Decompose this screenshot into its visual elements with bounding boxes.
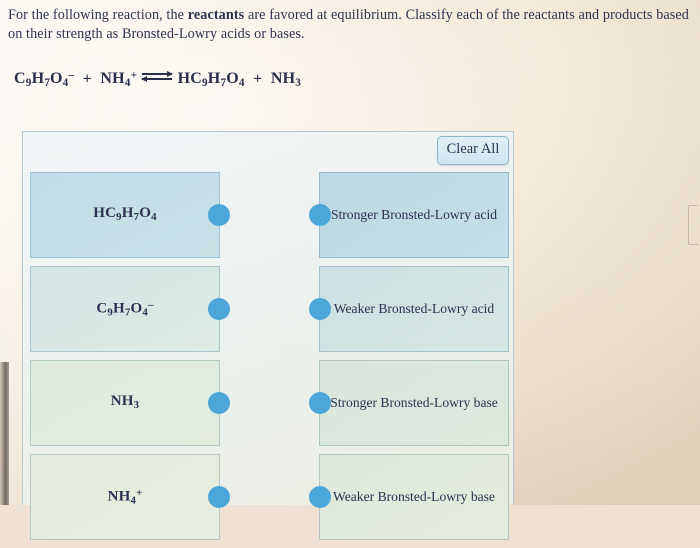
right-item-1[interactable]: Stronger Bronsted-Lowry acid <box>319 172 509 258</box>
equation-plus-1: + <box>78 70 96 87</box>
cut-off-panel-edge <box>688 205 699 245</box>
question-text: For the following reaction, the reactant… <box>8 6 690 44</box>
left-item-2[interactable]: C9H7O4– <box>30 266 220 352</box>
left-item-4-label: NH4+ <box>108 484 143 510</box>
connector-dot-left-icon[interactable] <box>309 392 331 414</box>
right-item-2[interactable]: Weaker Bronsted-Lowry acid <box>319 266 509 352</box>
left-item-1-label: HC9H7O4 <box>93 204 156 226</box>
left-column: HC9H7O4 C9H7O4– NH3 NH4+ <box>30 172 220 548</box>
connector-dot-right-icon[interactable] <box>208 392 230 414</box>
connector-dot-left-icon[interactable] <box>309 204 331 226</box>
equation-plus-2: + <box>249 70 267 87</box>
right-column: Stronger Bronsted-Lowry acid Weaker Bron… <box>319 172 509 548</box>
question-text-part-1: For the following reaction, the <box>8 7 188 23</box>
left-item-3[interactable]: NH3 <box>30 360 220 446</box>
right-item-1-label: Stronger Bronsted-Lowry acid <box>331 206 497 224</box>
left-item-4[interactable]: NH4+ <box>30 454 220 540</box>
right-item-3[interactable]: Stronger Bronsted-Lowry base <box>319 360 509 446</box>
left-item-1[interactable]: HC9H7O4 <box>30 172 220 258</box>
chemical-equation: C9H7O4– + NH4+ HC9H7O4 + NH3 <box>14 70 301 90</box>
matching-panel: Clear All HC9H7O4 C9H7O4– NH3 NH4+ <box>22 131 514 505</box>
connector-dot-right-icon[interactable] <box>208 204 230 226</box>
right-item-2-label: Weaker Bronsted-Lowry acid <box>334 300 494 318</box>
equation-reactant-1: C9H7O4– <box>14 70 74 87</box>
matching-columns: HC9H7O4 C9H7O4– NH3 NH4+ Stronger Bronst… <box>23 172 515 506</box>
connector-dot-right-icon[interactable] <box>208 298 230 320</box>
left-item-2-label: C9H7O4– <box>96 296 153 322</box>
connector-dot-left-icon[interactable] <box>309 298 331 320</box>
right-item-3-label: Stronger Bronsted-Lowry base <box>330 394 498 412</box>
equation-product-1: HC9H7O4 <box>178 70 245 87</box>
question-text-bold: reactants <box>188 7 245 23</box>
equation-product-2: NH3 <box>271 70 301 87</box>
left-item-3-label: NH3 <box>111 392 140 414</box>
right-item-4-label: Weaker Bronsted-Lowry base <box>333 488 495 506</box>
equilibrium-arrow-icon <box>142 70 172 84</box>
equation-reactant-2: NH4+ <box>100 70 137 87</box>
monitor-bezel-edge <box>0 362 9 505</box>
clear-all-button[interactable]: Clear All <box>437 136 509 165</box>
right-item-4[interactable]: Weaker Bronsted-Lowry base <box>319 454 509 540</box>
